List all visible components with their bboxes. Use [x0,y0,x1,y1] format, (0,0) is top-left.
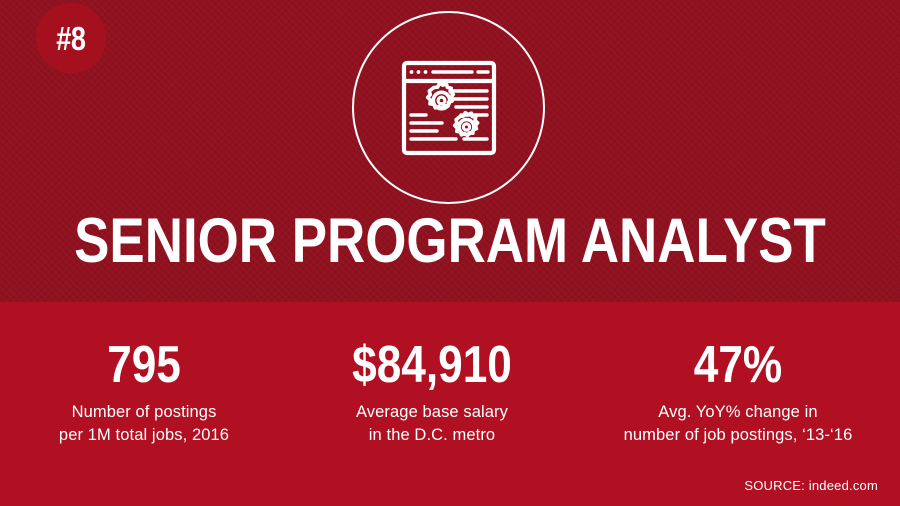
stat-salary: $84,910 Average base salary in the D.C. … [288,337,576,447]
page-title: SENIOR PROGRAM ANALYST [72,206,828,276]
stat-caption: Average base salary in the D.C. metro [288,401,576,447]
stat-caption-line: Number of postings [0,401,288,424]
stat-caption-line: per 1M total jobs, 2016 [0,424,288,447]
stat-caption-line: number of job postings, ‘13-‘16 [576,424,900,447]
stat-caption-line: Avg. YoY% change in [576,401,900,424]
stats-row: 795 Number of postings per 1M total jobs… [0,337,900,447]
stat-postings: 795 Number of postings per 1M total jobs… [0,337,288,447]
stat-caption: Number of postings per 1M total jobs, 20… [0,401,288,447]
stat-caption-line: Average base salary [288,401,576,424]
stat-growth: 47% Avg. YoY% change in number of job po… [576,337,900,447]
rank-badge-label: #8 [56,22,85,55]
icon-medallion-circle [352,11,545,204]
stat-value: $84,910 [310,337,555,393]
infographic-card: #8 [0,0,900,506]
rank-badge: #8 [36,3,106,73]
stat-value: 795 [22,337,267,393]
source-note: SOURCE: indeed.com [744,478,878,494]
stat-value: 47% [600,337,875,393]
stat-caption-line: in the D.C. metro [288,424,576,447]
stat-caption: Avg. YoY% change in number of job postin… [576,401,900,447]
browser-window-gears-icon [394,53,504,163]
